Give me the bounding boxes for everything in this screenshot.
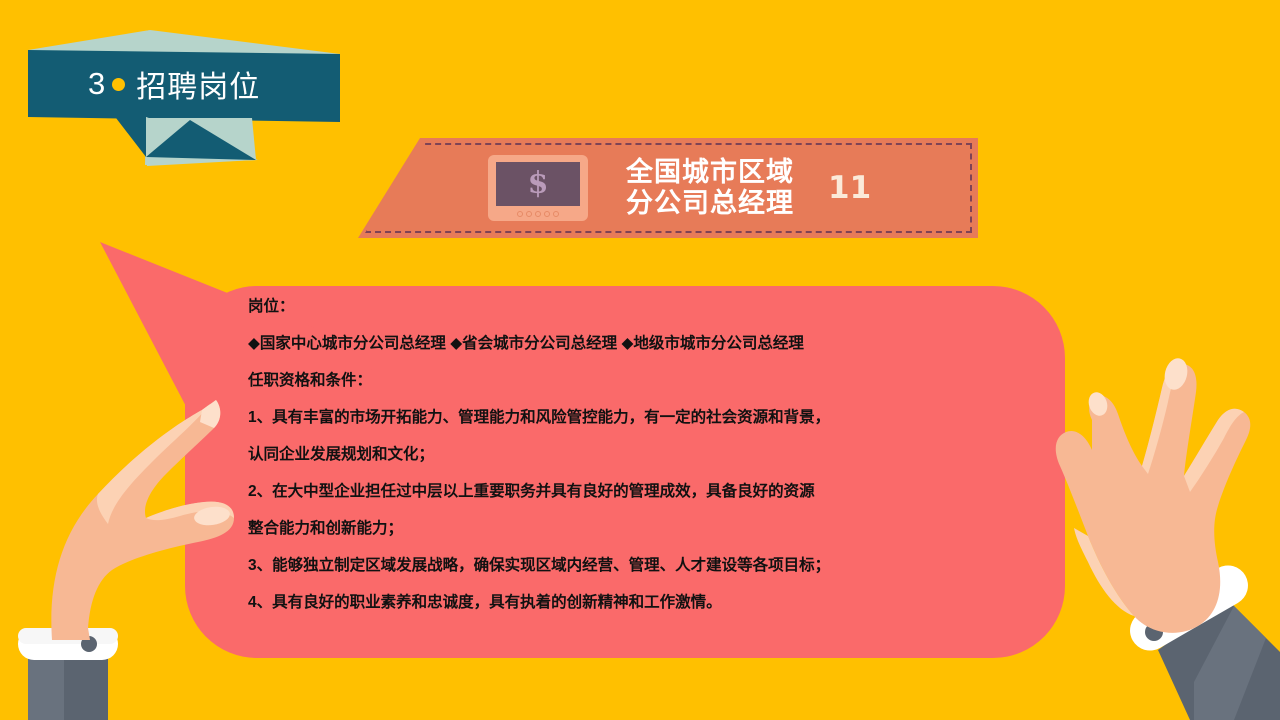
bubble-line: 整合能力和创新能力； bbox=[248, 510, 1078, 547]
bubble-line: 2、在大中型企业担任过中层以上重要职务并具有良好的管理成效，具备良好的资源 bbox=[248, 473, 1078, 510]
bubble-line: 任职资格和条件： bbox=[248, 362, 1078, 399]
right-hand-illustration bbox=[1038, 270, 1280, 720]
bubble-line: 1、具有丰富的市场开拓能力、管理能力和风险管控能力，有一定的社会资源和背景， bbox=[248, 399, 1078, 436]
left-hand-illustration bbox=[0, 280, 270, 720]
ribbon-fold-bottom-dark-l bbox=[116, 118, 146, 157]
bubble-line: ◆国家中心城市分公司总经理 ◆省会城市分公司总经理 ◆地级市城市分公司总经理 bbox=[248, 325, 1078, 362]
bubble-text-block: 岗位： ◆国家中心城市分公司总经理 ◆省会城市分公司总经理 ◆地级市城市分公司总… bbox=[248, 288, 1078, 621]
bubble-line: 认同企业发展规划和文化； bbox=[248, 436, 1078, 473]
ribbon-label: 3 招聘岗位 bbox=[88, 62, 260, 106]
ribbon-number: 3 bbox=[88, 66, 106, 102]
section-ribbon: 3 招聘岗位 bbox=[0, 0, 400, 200]
bubble-line: 3、能够独立制定区域发展战略，确保实现区域内经营、管理、人才建设等各项目标； bbox=[248, 547, 1078, 584]
ribbon-title: 招聘岗位 bbox=[136, 62, 260, 106]
bullet-dot-icon bbox=[112, 78, 125, 91]
bubble-line: 4、具有良好的职业素养和忠诚度，具有执着的创新精神和工作激情。 bbox=[248, 584, 1078, 621]
slide-canvas: 3 招聘岗位 $ 全国城市区域 分公司 bbox=[0, 0, 1280, 720]
bubble-line: 岗位： bbox=[248, 288, 1078, 325]
